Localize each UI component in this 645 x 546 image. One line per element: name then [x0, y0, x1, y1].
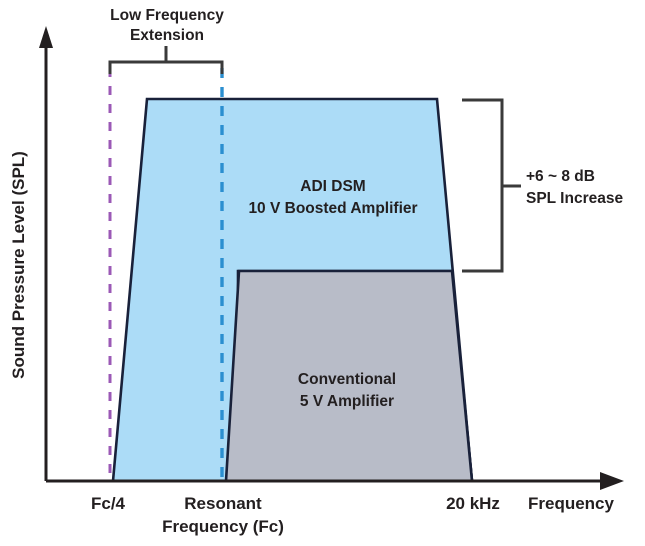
spl-increase-label-line2: SPL Increase [526, 190, 623, 207]
spl-increase-bracket [462, 100, 502, 271]
x-tick-label-fc-quarter: Fc/4 [91, 494, 126, 513]
diagram-canvas: Sound Pressure Level (SPL) Low Frequency… [0, 0, 645, 546]
low-frequency-extension-label-line2: Extension [130, 27, 204, 44]
spl-frequency-diagram: Sound Pressure Level (SPL) Low Frequency… [0, 0, 645, 546]
conventional-amplifier-label-line2: 5 V Amplifier [300, 393, 394, 410]
boosted-amplifier-label-line2: 10 V Boosted Amplifier [248, 200, 417, 217]
y-axis-title: Sound Pressure Level (SPL) [9, 151, 28, 379]
x-axis-arrowhead [600, 472, 624, 490]
x-tick-label-20khz: 20 kHz [446, 494, 500, 513]
low-frequency-extension-bracket [110, 62, 222, 74]
y-axis-arrowhead [39, 26, 53, 48]
low-frequency-extension-label-line1: Low Frequency [110, 7, 224, 24]
conventional-amplifier-label-line1: Conventional [298, 371, 396, 388]
x-axis-title: Frequency [528, 494, 615, 513]
x-tick-label-resonant-line1: Resonant [184, 494, 262, 513]
boosted-amplifier-label-line1: ADI DSM [300, 178, 365, 195]
x-tick-label-resonant-line2: Frequency (Fc) [162, 517, 284, 536]
spl-increase-label-line1: +6 ~ 8 dB [526, 168, 595, 185]
